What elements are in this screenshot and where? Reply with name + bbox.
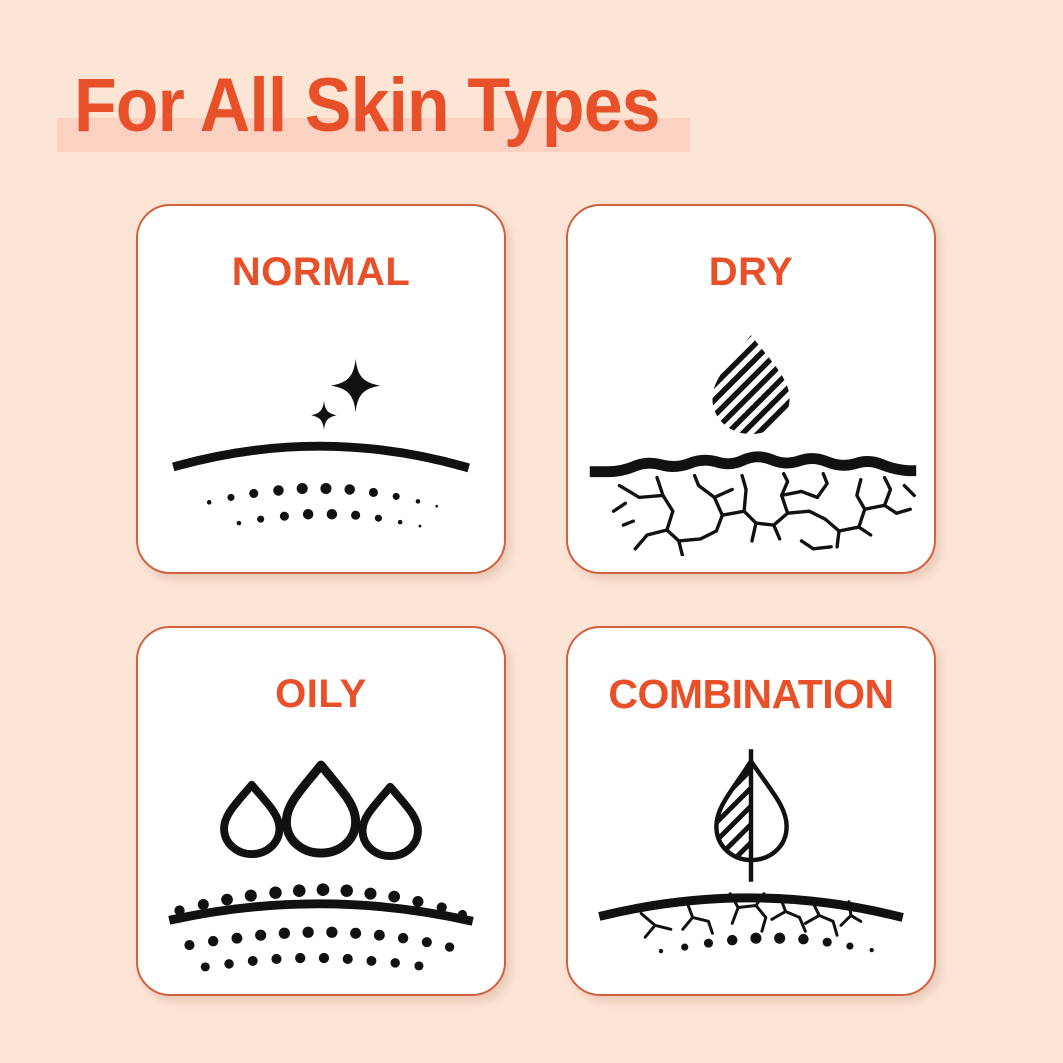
skin-type-card-dry[interactable]: DRY [566,204,936,574]
card-label-oily: OILY [138,672,504,716]
card-label-combination: COMBINATION [568,672,934,716]
title-text: For All Skin Types [74,62,660,150]
page-title: For All Skin Types [57,62,757,162]
card-label-dry: DRY [568,250,934,294]
skin-type-card-grid: NORMAL [136,204,936,1004]
skin-type-card-combination[interactable]: COMBINATION [566,626,936,996]
dry-skin-icon [568,326,934,556]
combination-skin-icon [568,748,934,978]
normal-skin-icon [138,326,504,556]
skin-type-card-normal[interactable]: NORMAL [136,204,506,574]
card-label-normal: NORMAL [138,250,504,294]
skin-type-card-oily[interactable]: OILY [136,626,506,996]
oily-skin-icon [138,748,504,978]
